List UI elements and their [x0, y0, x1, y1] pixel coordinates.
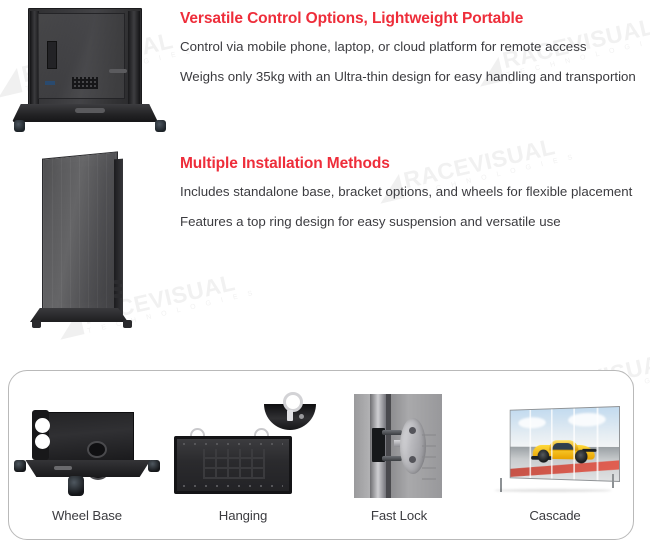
feature-title: Versatile Control Options, Lightweight P… — [180, 10, 650, 28]
poster-display-screen — [42, 151, 118, 318]
wall-shadow — [494, 489, 612, 492]
caster-wheel — [148, 460, 160, 472]
lock-bolt — [382, 456, 402, 461]
installation-methods-panel: Wheel Base Hanging — [8, 370, 634, 540]
frame-texture — [422, 428, 436, 480]
lever-hole — [409, 427, 416, 434]
caster-wheel-left — [14, 120, 25, 132]
caster-wheel-right — [155, 120, 166, 132]
cabinet-body — [28, 8, 142, 108]
panel-screw-row — [183, 485, 283, 487]
base-foot-right — [123, 320, 132, 328]
feature-line: Control via mobile phone, laptop, or clo… — [180, 38, 642, 57]
cabinet-frame-closeup — [354, 394, 442, 498]
install-card-label: Hanging — [219, 508, 267, 523]
poster-display-buttons — [114, 280, 122, 310]
feature-title: Multiple Installation Methods — [180, 155, 650, 173]
install-card-label: Fast Lock — [371, 508, 427, 523]
video-wall — [510, 406, 620, 482]
cabinet-right-rail — [128, 11, 140, 105]
wall-support-leg — [612, 474, 614, 488]
hanging-panel-rear — [174, 436, 292, 494]
caster-wheel — [14, 460, 26, 472]
fast-lock-image — [324, 390, 474, 502]
caster-wheel-front — [68, 476, 84, 496]
feature-block-installation-methods: Multiple Installation Methods Includes s… — [0, 145, 650, 340]
feature-line: Features a top ring design for easy susp… — [180, 213, 642, 232]
handle-hole — [35, 434, 50, 449]
installation-cards-grid: Wheel Base Hanging — [9, 371, 633, 539]
led-poster-display-standing-image — [0, 145, 180, 340]
wheel-base-housing — [44, 412, 134, 466]
housing-vent-circle — [87, 441, 107, 458]
lock-bolt — [382, 430, 402, 435]
hanging-image — [168, 390, 318, 502]
base-floor-plate — [20, 460, 156, 477]
cabinet-handle — [109, 69, 127, 73]
detail-pin — [287, 410, 293, 421]
cabinet-port — [47, 41, 57, 69]
install-card-wheel-base[interactable]: Wheel Base — [9, 371, 165, 539]
led-cabinet-rear-view-image — [0, 0, 180, 140]
cascade-image — [480, 390, 630, 502]
wheel-base-image — [12, 390, 162, 502]
cabinet-base-slot — [75, 108, 105, 113]
install-card-label: Cascade — [529, 508, 580, 523]
handle-hole — [35, 418, 50, 433]
install-card-hanging[interactable]: Hanging — [165, 371, 321, 539]
hanging-detail-closeup — [264, 392, 316, 444]
poster-display-base — [30, 308, 128, 322]
cabinet-vent-grid — [72, 77, 98, 89]
feature-copy: Versatile Control Options, Lightweight P… — [180, 0, 650, 87]
cabinet-indicator — [45, 81, 55, 85]
feature-copy: Multiple Installation Methods Includes s… — [180, 145, 650, 232]
install-card-fast-lock[interactable]: Fast Lock — [321, 371, 477, 539]
base-foot-left — [32, 320, 41, 328]
detail-bolt — [299, 414, 304, 419]
cabinet-base-plate — [12, 104, 158, 122]
feature-block-versatile-control: Versatile Control Options, Lightweight P… — [0, 0, 650, 140]
install-card-cascade[interactable]: Cascade — [477, 371, 633, 539]
base-plate-slot — [54, 466, 72, 470]
feature-line: Weighs only 35kg with an Ultra-thin desi… — [180, 68, 642, 87]
install-card-label: Wheel Base — [52, 508, 122, 523]
lifting-ring-icon — [283, 392, 303, 412]
frame-seam — [386, 394, 391, 498]
panel-seams — [511, 407, 620, 481]
handle-plate — [32, 410, 49, 460]
feature-line: Includes standalone base, bracket option… — [180, 183, 642, 202]
lever-hole — [409, 456, 416, 463]
